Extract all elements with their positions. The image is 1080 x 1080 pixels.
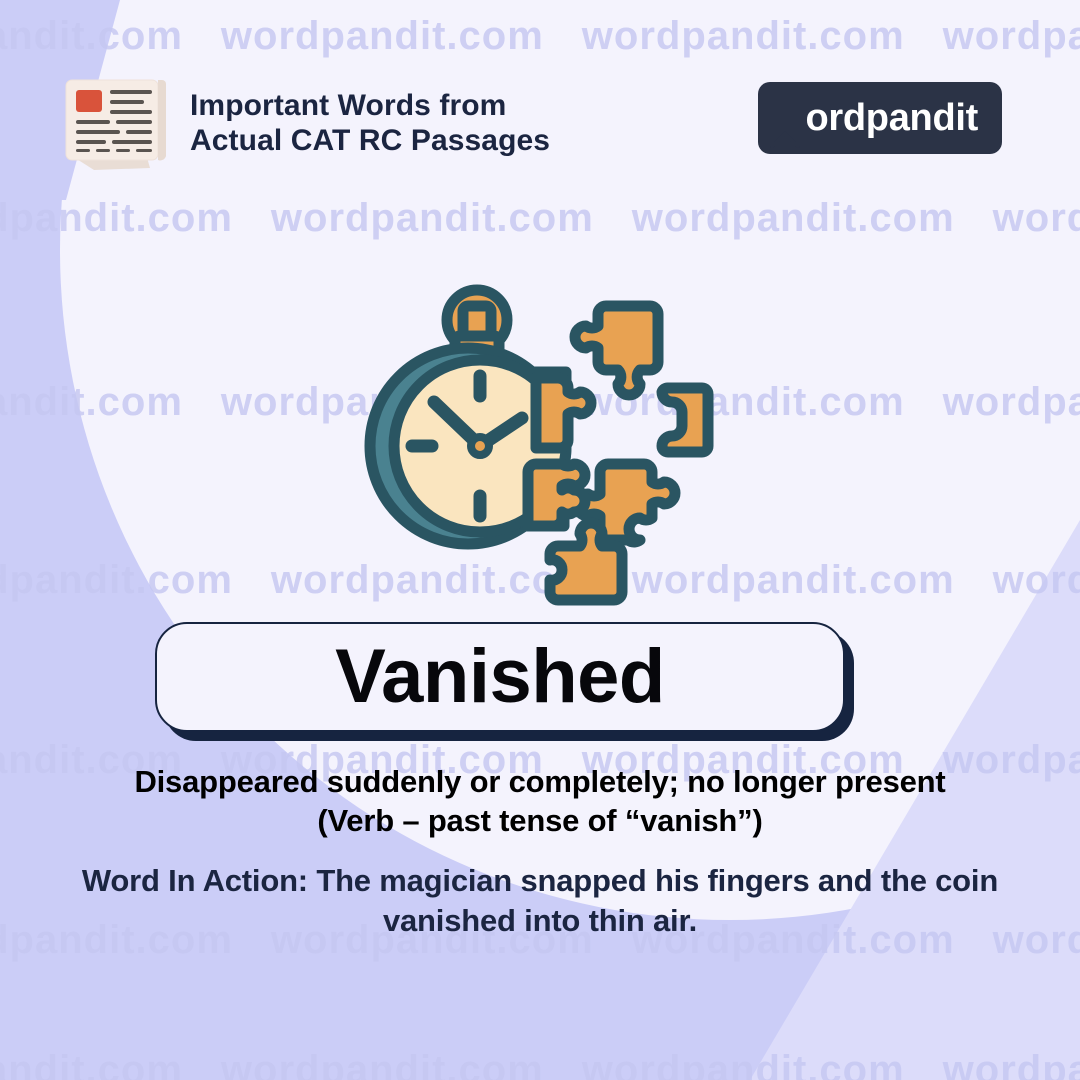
logo-background: ordpandit (758, 82, 1003, 154)
wordpandit-logo[interactable]: ordpandit (758, 82, 1003, 154)
bookmark-w-icon (768, 82, 802, 152)
puzzle-piece (575, 306, 658, 395)
page-title: Important Words from Actual CAT RC Passa… (190, 88, 550, 158)
word-in-action: Word In Action: The magician snapped his… (0, 861, 1080, 942)
word-definition-line2: (Verb – past tense of “vanish”) (30, 801, 1050, 840)
stopwatch-puzzle-illustration (350, 278, 730, 608)
puzzle-piece (528, 464, 585, 526)
puzzle-piece (536, 378, 591, 448)
newspaper-icon (58, 72, 170, 176)
page-title-line1: Important Words from (190, 88, 550, 123)
puzzle-piece (662, 388, 708, 452)
word-card: Vanished (155, 622, 845, 732)
page-title-line2: Actual CAT RC Passages (190, 123, 550, 158)
watermark-row: wordpandit.comwordpandit.comwordpandit.c… (0, 196, 1080, 241)
logo-text: ordpandit (806, 99, 979, 137)
word-card-body: Vanished (155, 622, 845, 732)
poster-canvas: wordpandit.comwordpandit.comwordpandit.c… (0, 0, 1080, 1080)
word-term: Vanished (335, 639, 665, 715)
poster-header: Important Words from Actual CAT RC Passa… (0, 0, 1080, 190)
watermark-row: wordpandit.comwordpandit.comwordpandit.c… (0, 1048, 1080, 1080)
word-definition: Disappeared suddenly or completely; no l… (0, 762, 1080, 841)
word-definition-line1: Disappeared suddenly or completely; no l… (30, 762, 1050, 801)
word-text-block: Disappeared suddenly or completely; no l… (0, 762, 1080, 941)
